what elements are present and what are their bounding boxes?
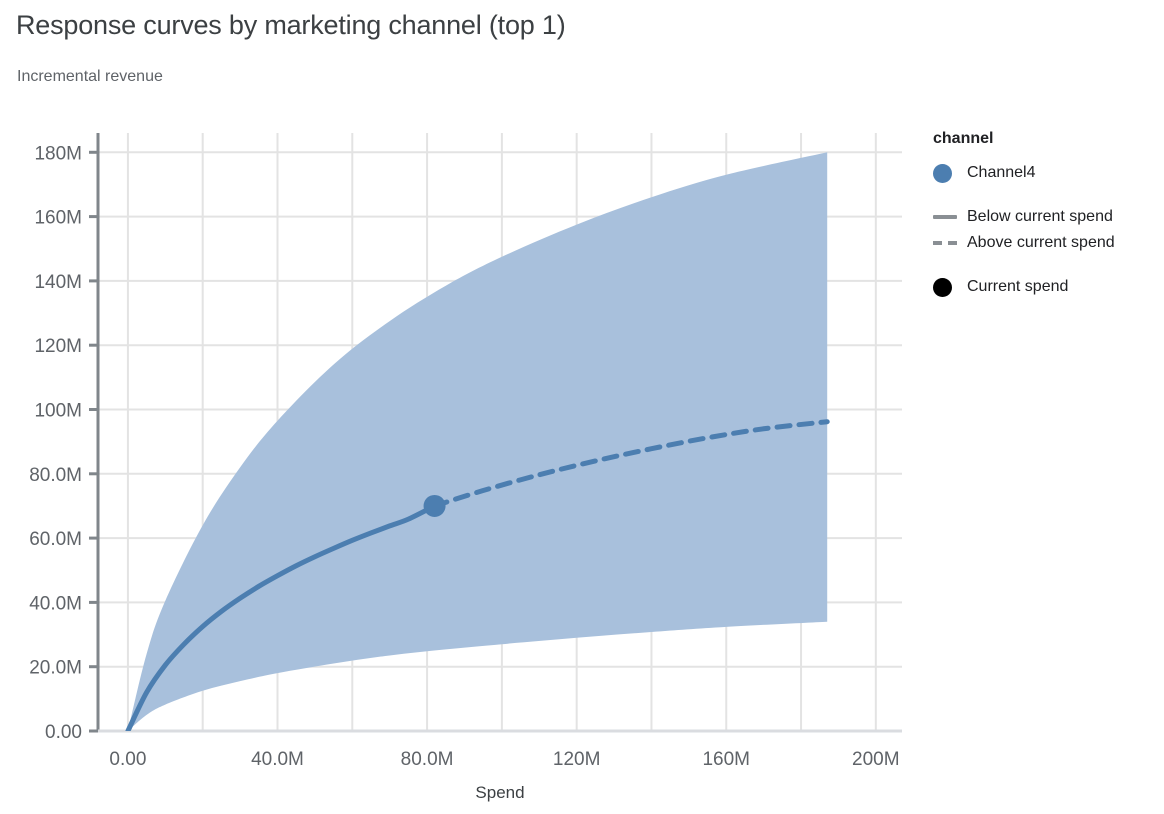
current-spend-point[interactable]	[424, 495, 446, 517]
y-tick-label: 60.0M	[29, 529, 82, 550]
legend-marker-wrap	[933, 241, 967, 245]
y-tick-label: 100M	[34, 400, 82, 421]
x-tick-label: 80.0M	[401, 749, 454, 770]
y-tick-label: 140M	[34, 272, 82, 293]
x-tick-label: 120M	[553, 749, 601, 770]
y-axis-tick-labels: 0.0020.0M40.0M60.0M80.0M100M120M140M160M…	[29, 143, 82, 743]
y-tick-label: 0.00	[45, 722, 82, 743]
x-tick-label: 0.00	[109, 749, 146, 770]
legend-label-above: Above current spend	[967, 234, 1115, 252]
y-tick-label: 160M	[34, 208, 82, 229]
solid-line-icon	[933, 215, 957, 219]
current-spend-marker	[424, 495, 446, 517]
legend-marker-wrap	[933, 215, 967, 219]
legend: channel Channel4 Below current spend Abo…	[933, 130, 1163, 300]
y-tick-label: 120M	[34, 336, 82, 357]
dashed-line-icon	[933, 241, 957, 245]
legend-item-channel4[interactable]: Channel4	[933, 160, 1163, 186]
x-axis-tick-labels: 0.0040.0M80.0M120M160M200M	[109, 749, 899, 770]
y-tick-label: 20.0M	[29, 658, 82, 679]
y-tick-label: 40.0M	[29, 593, 82, 614]
x-tick-label: 200M	[852, 749, 900, 770]
current-spend-dot-icon	[933, 278, 952, 297]
legend-spacer	[933, 256, 1163, 274]
legend-label-below: Below current spend	[967, 208, 1113, 226]
legend-item-below-current-spend[interactable]: Below current spend	[933, 204, 1163, 230]
y-tick-label: 80.0M	[29, 465, 82, 486]
legend-item-above-current-spend[interactable]: Above current spend	[933, 230, 1163, 256]
x-tick-label: 40.0M	[251, 749, 304, 770]
legend-marker-wrap	[933, 164, 967, 183]
x-axis-title: Spend	[475, 783, 524, 802]
x-tick-label: 160M	[702, 749, 750, 770]
legend-marker-wrap	[933, 278, 967, 297]
confidence-band	[128, 152, 827, 731]
series-dot-icon	[933, 164, 952, 183]
confidence-band-area	[128, 152, 827, 731]
legend-title: channel	[933, 130, 1163, 148]
legend-label-channel4: Channel4	[967, 164, 1036, 182]
legend-spacer	[933, 186, 1163, 204]
y-tick-label: 180M	[34, 143, 82, 164]
legend-item-current-spend[interactable]: Current spend	[933, 274, 1163, 300]
legend-label-current: Current spend	[967, 278, 1068, 296]
response-curve-chart: 0.0020.0M40.0M60.0M80.0M100M120M140M160M…	[0, 0, 1164, 814]
